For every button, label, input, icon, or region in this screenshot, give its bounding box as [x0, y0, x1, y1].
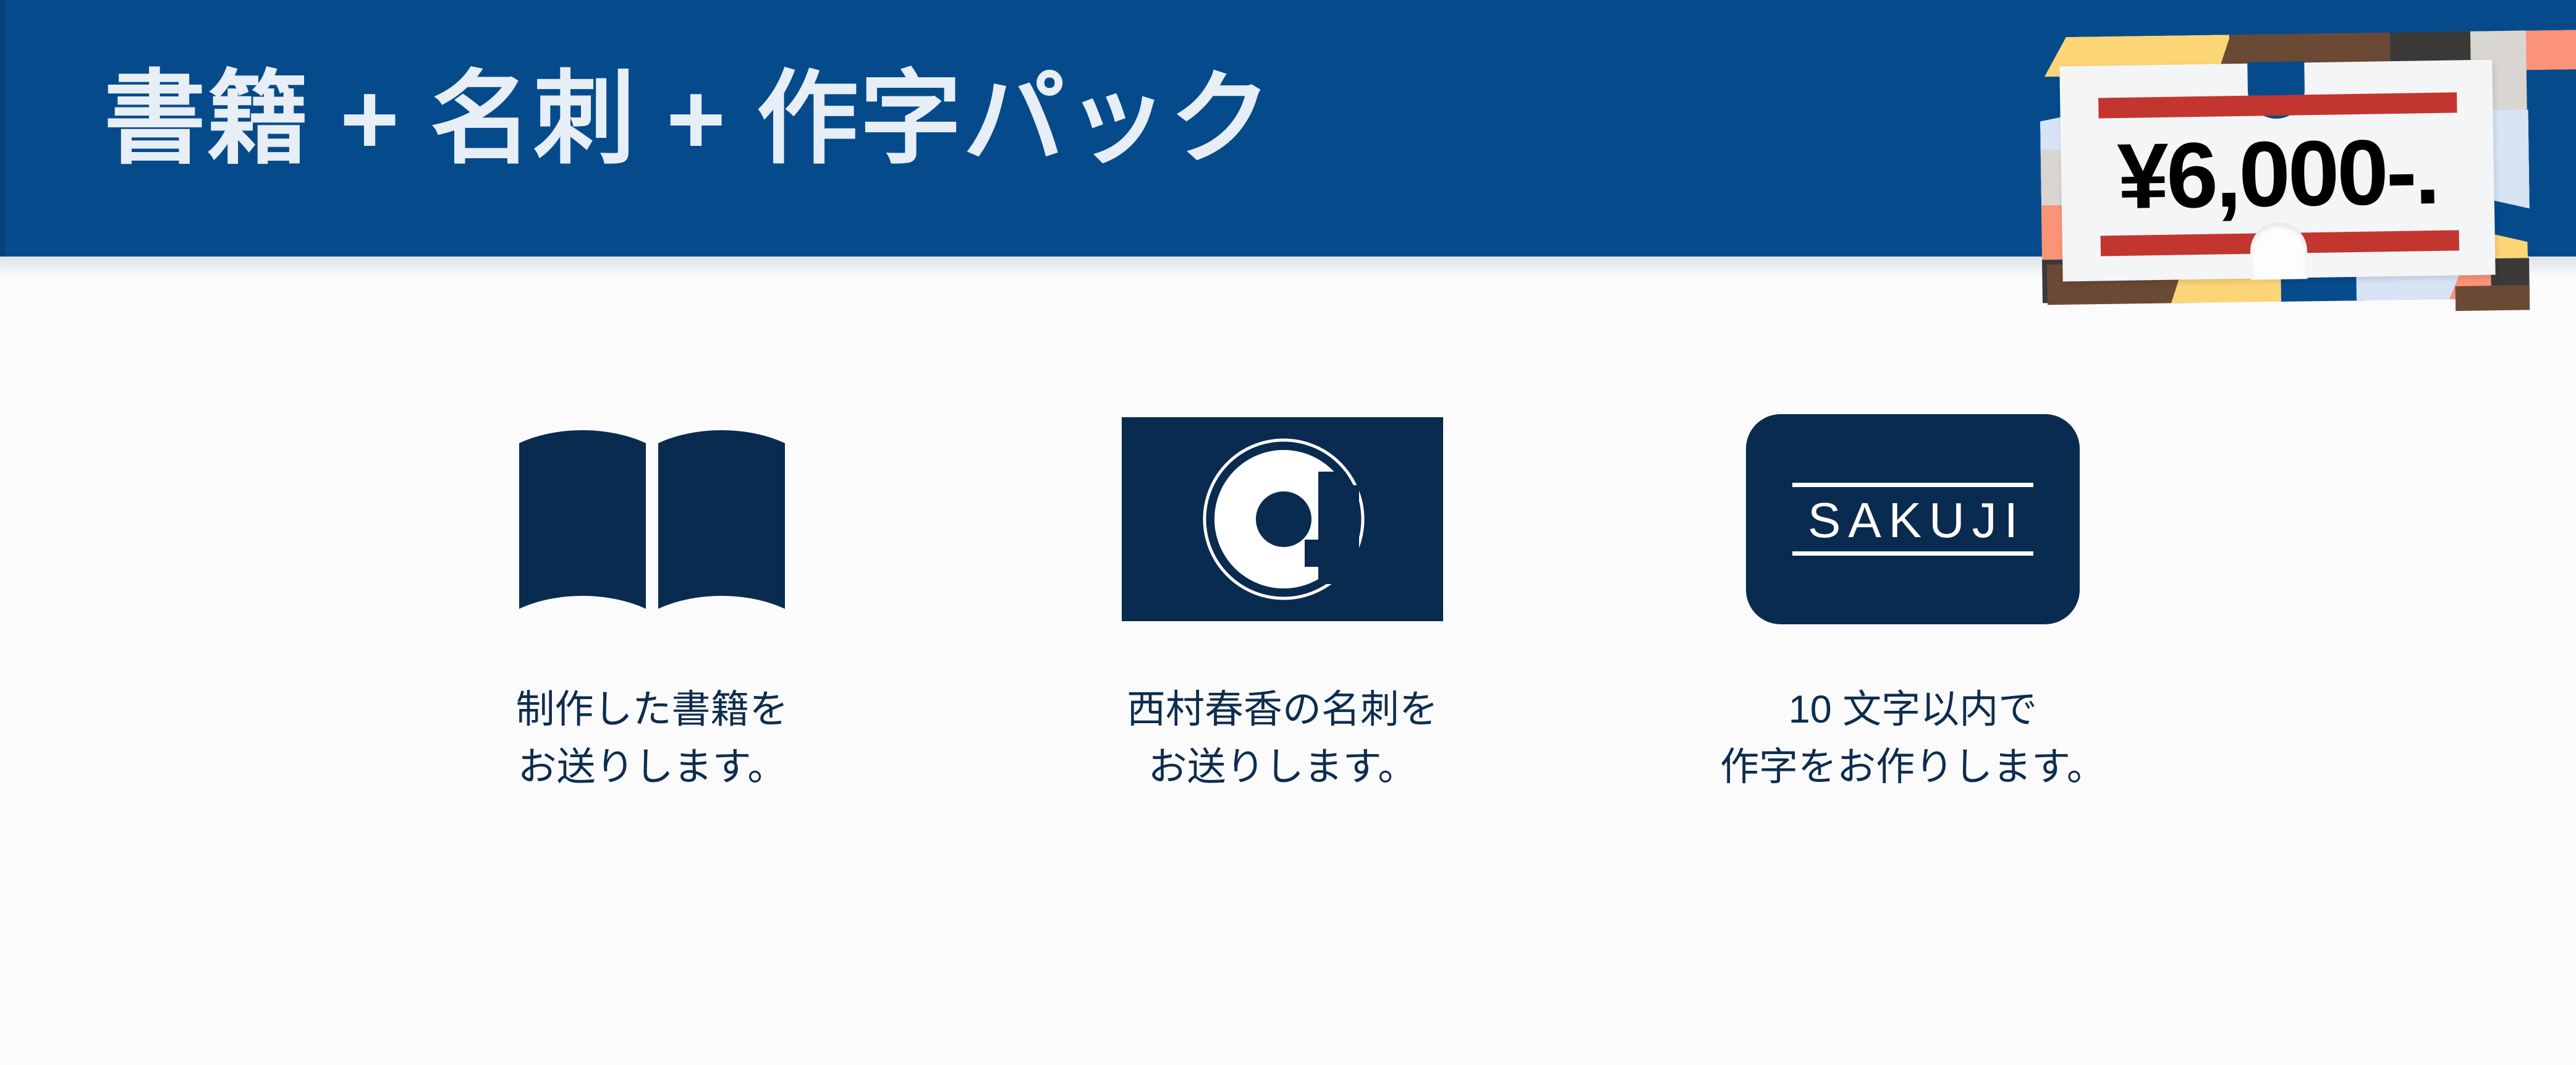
price-value: ¥6,000-.	[2061, 124, 2494, 224]
open-book-icon	[519, 430, 785, 609]
confetti-shape-brown-bottomright	[2455, 285, 2530, 311]
business-card-icon	[1122, 417, 1443, 621]
sakuji-logo-label: SAKUJI	[1792, 496, 2033, 545]
feature-item-book: 制作した書籍を お送りします。	[337, 396, 967, 796]
page-title: 書籍 + 名刺 + 作字パック	[104, 68, 1273, 170]
feature-item-sakuji: SAKUJI 10 文字以内で 作字をお作りします。	[1598, 396, 2228, 796]
feature-item-business-card: 西村春香の名刺を お送りします。	[967, 396, 1598, 796]
feature-icon-wrapper	[1122, 396, 1443, 643]
sakuji-logo-icon: SAKUJI	[1746, 414, 2080, 624]
price-card-rule-top	[2098, 92, 2457, 118]
feature-list: 制作した書籍を お送りします。	[0, 396, 2576, 796]
sakuji-logo-rules: SAKUJI	[1792, 483, 2033, 556]
feature-icon-wrapper	[519, 396, 785, 643]
price-card-bottom-notch	[2250, 222, 2307, 279]
feature-caption: 西村春香の名刺を お送りします。	[1127, 681, 1438, 796]
slide-canvas: 書籍 + 名刺 + 作字パック	[0, 0, 2576, 1065]
price-card: ¥6,000-.	[2059, 60, 2495, 282]
feature-caption: 制作した書籍を お送りします。	[516, 681, 789, 796]
feature-caption: 10 文字以内で 作字をお作りします。	[1720, 681, 2106, 796]
price-badge: ¥6,000-.	[2046, 34, 2515, 303]
feature-icon-wrapper: SAKUJI	[1746, 396, 2080, 643]
